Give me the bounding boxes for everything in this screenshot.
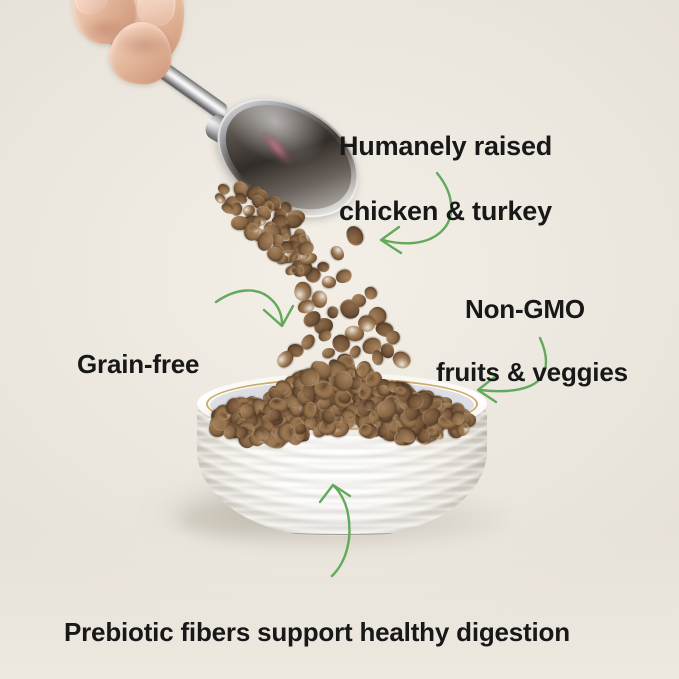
callout-line-1: Humanely raised	[339, 130, 552, 162]
callout-prebiotic-fibers: Prebiotic fibers support healthy digesti…	[64, 586, 570, 679]
callout-line-1: Non-GMO	[465, 294, 628, 325]
callout-line-2: fruits & veggies	[436, 357, 628, 388]
callout-humanely-raised: Humanely raised chicken & turkey	[339, 98, 552, 260]
hand-holding-spoon	[52, 0, 242, 76]
ceramic-dog-bowl	[197, 373, 487, 541]
callout-non-gmo: Non-GMO fruits & veggies	[465, 263, 628, 419]
thumb-crease-shadow	[82, 18, 128, 40]
callout-line-2: chicken & turkey	[339, 195, 552, 227]
callout-line-1: Grain-free	[77, 349, 199, 380]
callout-grain-free: Grain-free	[77, 318, 199, 412]
callout-line-1: Prebiotic fibers support healthy digesti…	[64, 617, 570, 648]
product-infographic: Humanely raised chicken & turkey Non-GMO…	[0, 0, 679, 679]
